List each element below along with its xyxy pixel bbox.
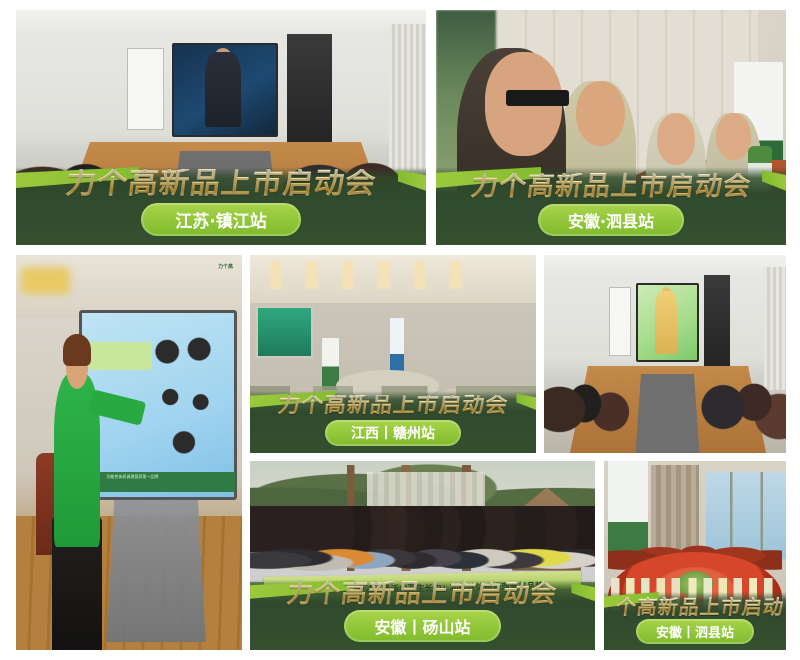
photo-panel-anhui-sixian[interactable]: 力个高新品上市启动会 安徽·泗县站: [436, 10, 786, 245]
caption-banner: 力个高新品上市启动会 安徽·泗县站: [436, 167, 786, 245]
banner-title: 力个高新品上市启动会: [469, 173, 752, 200]
banner-title: 个高新品上市启动: [615, 597, 785, 617]
photo-panel-meeting-room-right[interactable]: [544, 255, 786, 453]
photo-collage: 力个高新品上市启动会 江苏·镇江站 力个高新品上市启动会 安徽·泗县站: [0, 0, 800, 660]
banner-title: 力个高新品上市启动会: [286, 581, 559, 607]
photo-panel-jiangsu-zhenjiang[interactable]: 力个高新品上市启动会 江苏·镇江站: [16, 10, 426, 245]
location-pill: 江苏·镇江站: [141, 203, 300, 236]
photo-image: 力个高 功能性体质调理营养第一品牌: [16, 255, 242, 650]
caption-banner: 力个高新品上市启动会 安徽丨砀山站: [250, 580, 595, 650]
screen-brand-logo: 力个高: [218, 263, 233, 270]
photo-panel-speaker-presentation[interactable]: 力个高 功能性体质调理营养第一品牌: [16, 255, 242, 650]
location-pill: 安徽丨泗县站: [636, 619, 754, 644]
caption-banner: 力个高新品上市启动会 江西丨赣州站: [250, 391, 536, 453]
photo-image: [544, 255, 786, 453]
banner-title: 力个高新品上市启动会: [64, 169, 378, 199]
caption-banner: 个高新品上市启动 安徽丨泗县站: [604, 592, 786, 650]
location-pill: 江西丨赣州站: [325, 420, 461, 446]
photo-panel-anhui-sixian-products[interactable]: 个高新品上市启动 安徽丨泗县站: [604, 461, 786, 650]
location-pill: 安徽丨砀山站: [344, 610, 500, 642]
photo-panel-jiangxi-ganzhou[interactable]: 力个高新品上市启动会 江西丨赣州站: [250, 255, 536, 453]
location-pill: 安徽·泗县站: [538, 204, 684, 236]
screen-footer-text: 功能性体质调理营养第一品牌: [106, 474, 158, 480]
banner-title: 力个高新品上市启动会: [277, 395, 510, 417]
caption-banner: 力个高新品上市启动会 江苏·镇江站: [16, 167, 426, 245]
photo-panel-anhui-dangshan[interactable]: Lifegy 力个高 专注「焕活内源生长力」功能性体质调理营养品牌 力个高新品上…: [250, 461, 595, 650]
